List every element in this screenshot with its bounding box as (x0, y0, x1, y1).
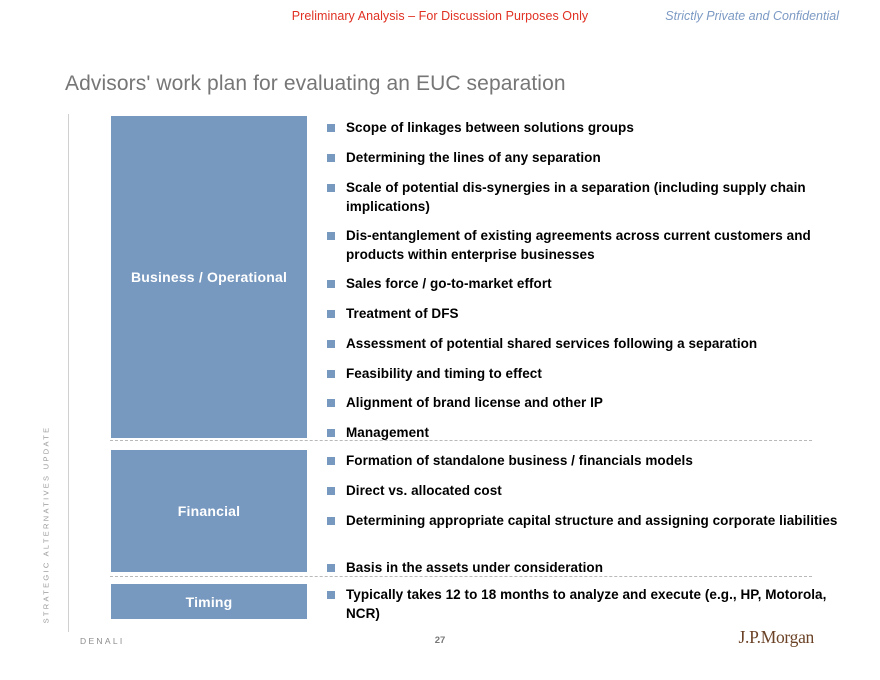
list-item: Dis-entanglement of existing agreements … (327, 227, 847, 264)
list-item-label: Formation of standalone business / finan… (346, 453, 693, 468)
square-bullet-icon (327, 310, 335, 318)
jpmorgan-logo: J.P.Morgan (739, 627, 814, 648)
list-item-label: Alignment of brand license and other IP (346, 395, 603, 410)
square-bullet-icon (327, 429, 335, 437)
list-item: Assessment of potential shared services … (327, 335, 757, 354)
list-item-label: Sales force / go-to-market effort (346, 276, 552, 291)
category-box-timing[interactable]: Timing (111, 584, 307, 619)
list-item: Direct vs. allocated cost (327, 482, 502, 501)
square-bullet-icon (327, 280, 335, 288)
category-box-financial[interactable]: Financial (111, 450, 307, 572)
list-item-label: Basis in the assets under consideration (346, 560, 603, 575)
square-bullet-icon (327, 184, 335, 192)
list-item-label: Determining the lines of any separation (346, 150, 601, 165)
square-bullet-icon (327, 399, 335, 407)
square-bullet-icon (327, 232, 335, 240)
list-item-label: Typically takes 12 to 18 months to analy… (346, 587, 826, 621)
list-item: Treatment of DFS (327, 305, 459, 324)
square-bullet-icon (327, 370, 335, 378)
list-item: Alignment of brand license and other IP (327, 394, 603, 413)
work-plan-table: Business / Operational Financial Timing … (0, 0, 880, 680)
list-item-label: Management (346, 425, 429, 440)
square-bullet-icon (327, 340, 335, 348)
list-item-label: Scope of linkages between solutions grou… (346, 120, 634, 135)
list-item: Formation of standalone business / finan… (327, 452, 693, 471)
square-bullet-icon (327, 154, 335, 162)
list-item-label: Dis-entanglement of existing agreements … (346, 228, 811, 262)
square-bullet-icon (327, 487, 335, 495)
square-bullet-icon (327, 591, 335, 599)
category-box-business-operational[interactable]: Business / Operational (111, 116, 307, 438)
list-item: Scale of potential dis-synergies in a se… (327, 179, 847, 216)
list-item-label: Treatment of DFS (346, 306, 459, 321)
list-item: Determining appropriate capital structur… (327, 512, 837, 531)
list-item-label: Feasibility and timing to effect (346, 366, 542, 381)
list-item: Sales force / go-to-market effort (327, 275, 552, 294)
square-bullet-icon (327, 564, 335, 572)
square-bullet-icon (327, 124, 335, 132)
list-item-label: Direct vs. allocated cost (346, 483, 502, 498)
list-item-label: Assessment of potential shared services … (346, 336, 757, 351)
list-item-label: Scale of potential dis-synergies in a se… (346, 180, 806, 214)
list-item: Typically takes 12 to 18 months to analy… (327, 586, 847, 623)
square-bullet-icon (327, 517, 335, 525)
square-bullet-icon (327, 457, 335, 465)
list-item: Basis in the assets under consideration (327, 559, 603, 578)
list-item: Scope of linkages between solutions grou… (327, 119, 634, 138)
list-item: Feasibility and timing to effect (327, 365, 542, 384)
section-divider (110, 440, 812, 441)
list-item: Determining the lines of any separation (327, 149, 601, 168)
list-item: Management (327, 424, 429, 443)
list-item-label: Determining appropriate capital structur… (346, 513, 837, 528)
